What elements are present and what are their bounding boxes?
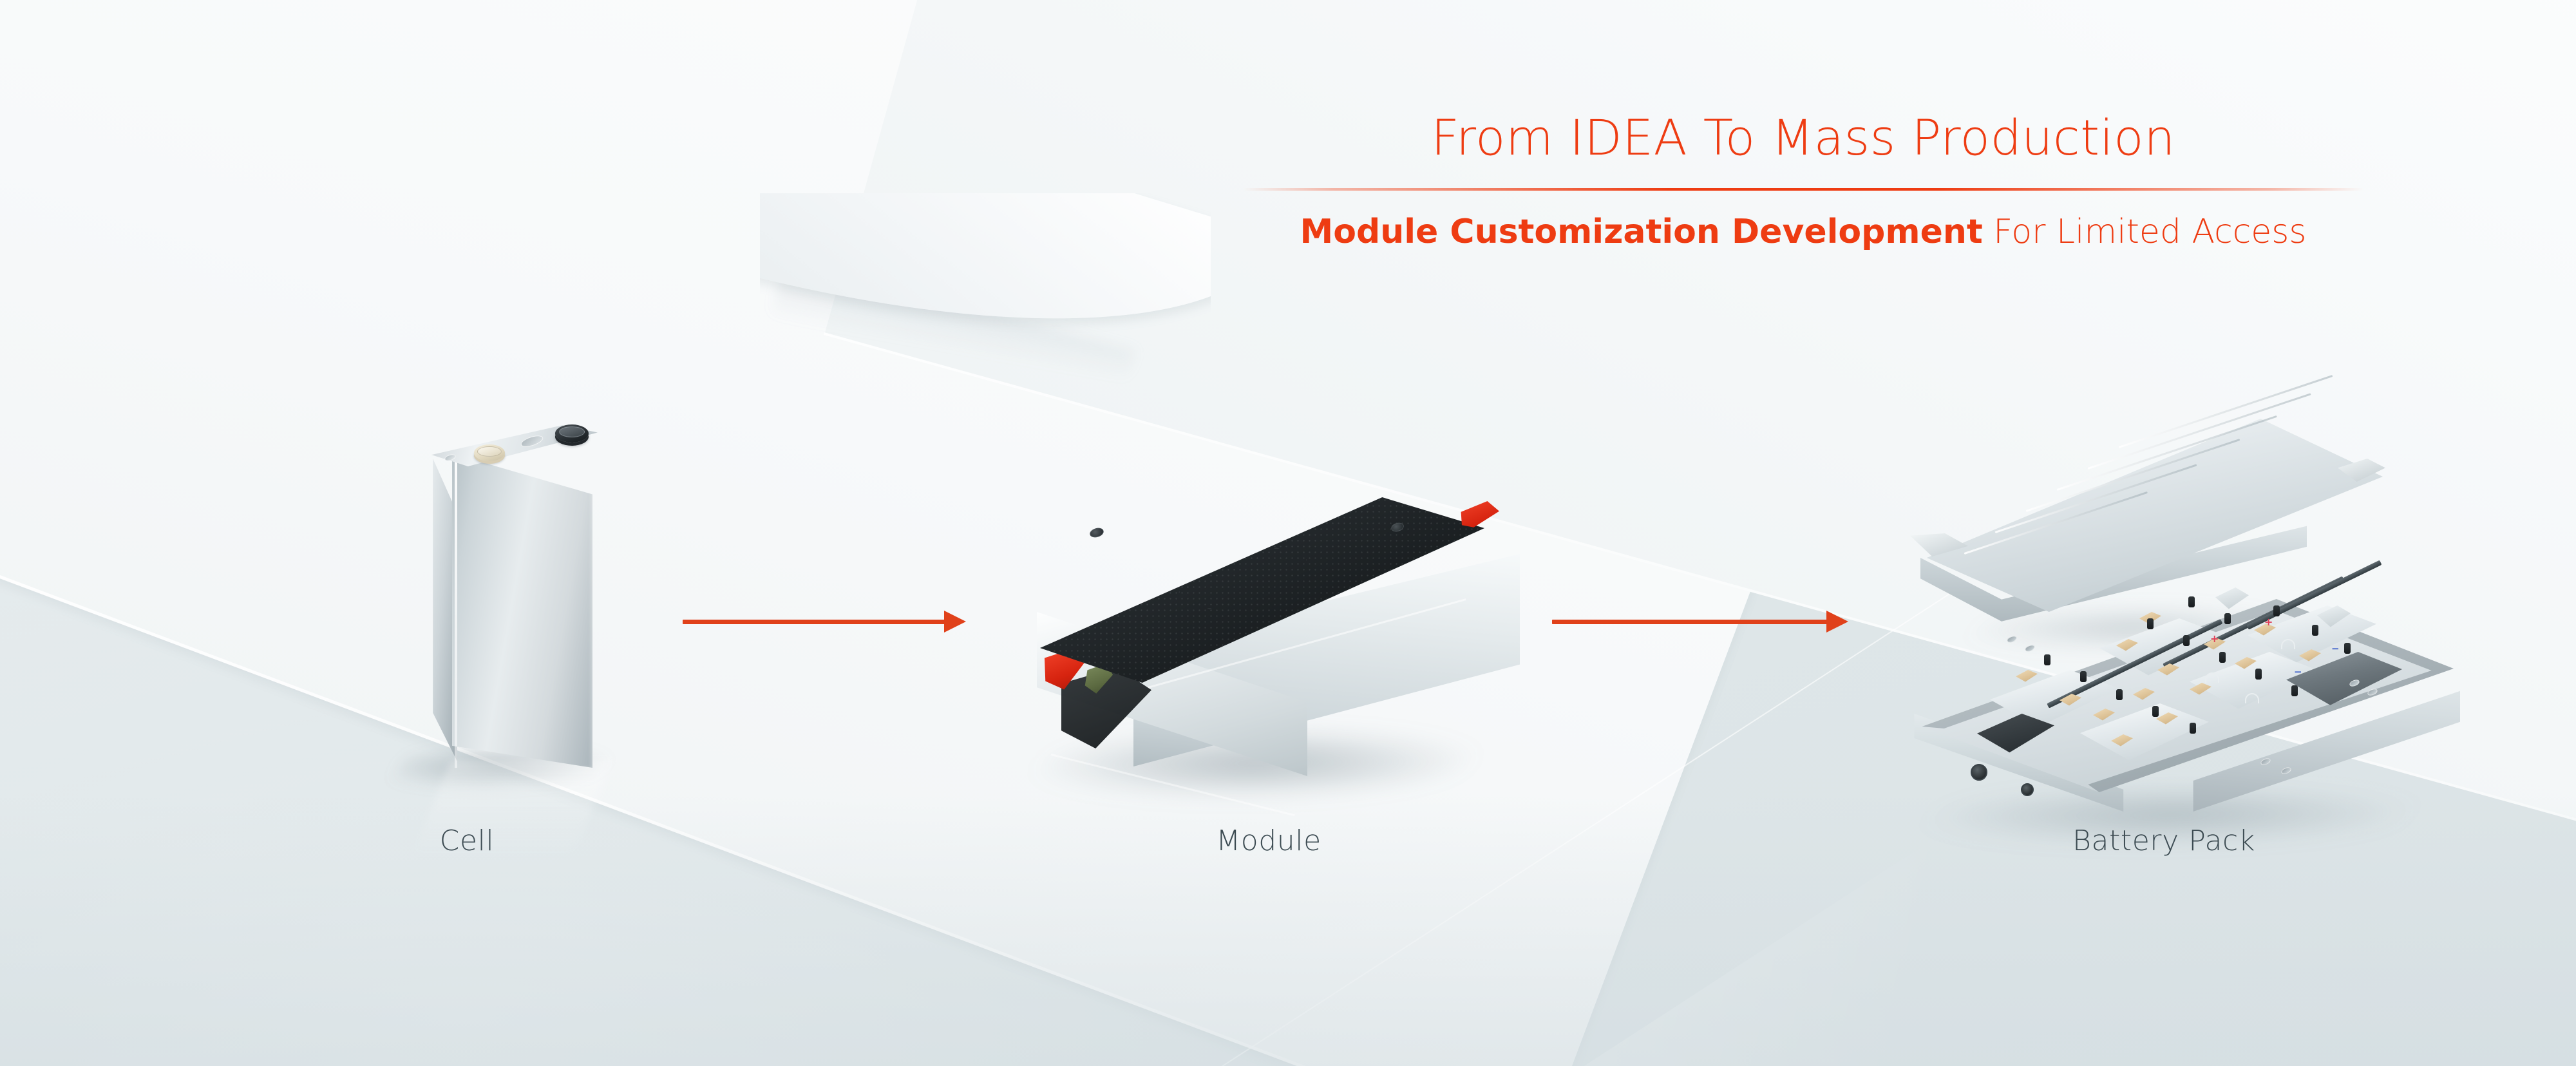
pack-stud bbox=[2219, 652, 2226, 663]
cell-front-face bbox=[452, 453, 592, 768]
arrow-head-icon bbox=[944, 611, 966, 633]
pack-stud bbox=[2190, 723, 2196, 734]
paper-curl-shadow bbox=[772, 257, 1135, 406]
pack-stud bbox=[2188, 596, 2195, 607]
arrow-module-to-pack bbox=[1552, 602, 1848, 641]
pack-wire-loop bbox=[2205, 672, 2219, 683]
pack-stud bbox=[2224, 613, 2231, 624]
arrow-head-icon bbox=[1826, 611, 1848, 633]
title-divider bbox=[1243, 188, 2363, 191]
pack-stud bbox=[2080, 671, 2087, 682]
pack-stud bbox=[2312, 625, 2318, 636]
header-block: From IDEA To Mass Production Module Cust… bbox=[1224, 113, 2383, 251]
pack-polarity-mark-negative: − bbox=[2331, 644, 2340, 654]
pack-hv-connector-icon bbox=[1971, 764, 1987, 781]
product-module bbox=[1005, 451, 1533, 812]
product-cell bbox=[412, 425, 625, 824]
pack-stud bbox=[2273, 605, 2280, 616]
pack-stud bbox=[2044, 654, 2050, 665]
pack-stud bbox=[2183, 635, 2190, 646]
page-subtitle: Module Customization Development For Lim… bbox=[1224, 214, 2383, 251]
arrow-cell-to-module bbox=[683, 602, 966, 641]
cell-positive-terminal bbox=[474, 444, 505, 461]
pack-wire-loop bbox=[2245, 693, 2259, 703]
arrow-shaft bbox=[683, 620, 945, 624]
pack-wire-loop bbox=[2281, 639, 2295, 649]
pack-stud bbox=[2344, 643, 2351, 654]
pack-stud bbox=[2291, 685, 2298, 696]
module-screw-icon bbox=[1088, 526, 1104, 539]
pack-polarity-mark-positive: + bbox=[2210, 634, 2219, 644]
pack-signal-connector-icon bbox=[2021, 783, 2034, 796]
pack-connector-block bbox=[2016, 670, 2038, 684]
promo-banner: From IDEA To Mass Production Module Cust… bbox=[0, 0, 2576, 1066]
cell-negative-terminal bbox=[555, 424, 589, 443]
subtitle-strong-text: Module Customization Development bbox=[1300, 213, 1983, 251]
pack-polarity-mark-positive: + bbox=[2264, 617, 2273, 627]
caption-module: Module bbox=[1075, 824, 1462, 857]
caption-battery-pack: Battery Pack bbox=[1971, 824, 2357, 857]
page-title: From IDEA To Mass Production bbox=[1224, 113, 2383, 162]
pack-stud bbox=[2152, 706, 2159, 717]
subtitle-light-text: For Limited Access bbox=[1983, 213, 2307, 251]
arrow-shaft bbox=[1552, 620, 1827, 624]
product-battery-pack: + + − − bbox=[1887, 412, 2467, 824]
pack-polarity-mark-negative: − bbox=[2294, 667, 2302, 677]
caption-cell: Cell bbox=[274, 824, 660, 857]
pack-stud bbox=[2147, 618, 2154, 629]
paper-curl bbox=[760, 193, 1211, 399]
pack-stud bbox=[2116, 689, 2123, 700]
pack-stud bbox=[2255, 669, 2262, 680]
cell-edge-highlight bbox=[455, 455, 457, 768]
